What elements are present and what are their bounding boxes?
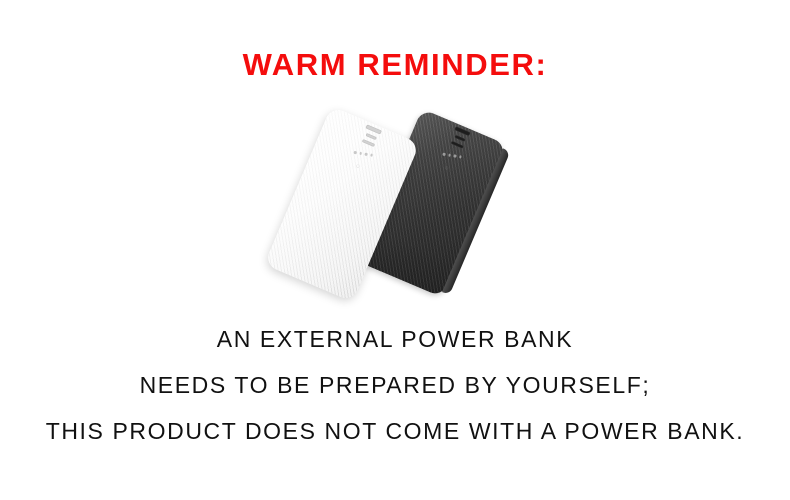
warm-reminder-banner: WARM REMINDER: ○ — [0, 0, 790, 500]
led-dot — [359, 152, 362, 155]
notice-line-3: THIS PRODUCT DOES NOT COME WITH A POWER … — [0, 408, 790, 454]
led-dot — [370, 153, 373, 156]
page-title: WARM REMINDER: — [0, 48, 790, 82]
notice-line-2: NEEDS TO BE PREPARED BY YOURSELF; — [0, 362, 790, 408]
led-dot — [365, 153, 368, 156]
product-image: ○ ○ — [282, 104, 478, 309]
notice-line-1: AN EXTERNAL POWER BANK — [0, 316, 790, 362]
led-dot — [354, 151, 357, 154]
notice-text-block: AN EXTERNAL POWER BANK NEEDS TO BE PREPA… — [0, 316, 790, 454]
black-power-bank-side-edge — [442, 148, 510, 295]
usb-c-port-icon — [365, 133, 376, 140]
